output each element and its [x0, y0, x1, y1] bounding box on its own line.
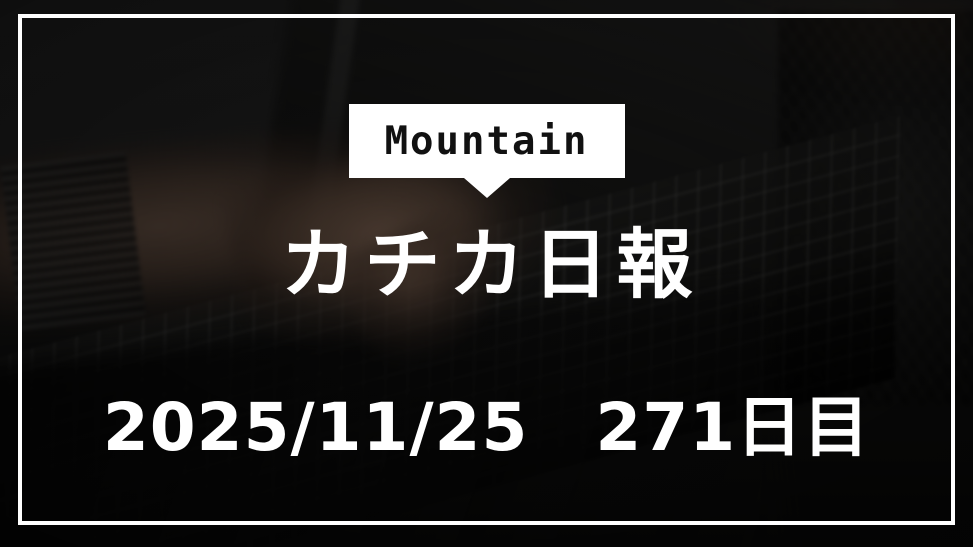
- brand-badge: Mountain: [349, 104, 625, 178]
- daily-report-card: Mountain カチカ日報 2025/11/25 271日目: [0, 0, 973, 547]
- card-content: Mountain カチカ日報 2025/11/25 271日目: [0, 0, 973, 547]
- brand-badge-label: Mountain: [349, 104, 625, 178]
- date-and-day-counter: 2025/11/25 271日目: [0, 386, 973, 470]
- badge-pointer-icon: [464, 178, 510, 198]
- page-title: カチカ日報: [0, 222, 973, 308]
